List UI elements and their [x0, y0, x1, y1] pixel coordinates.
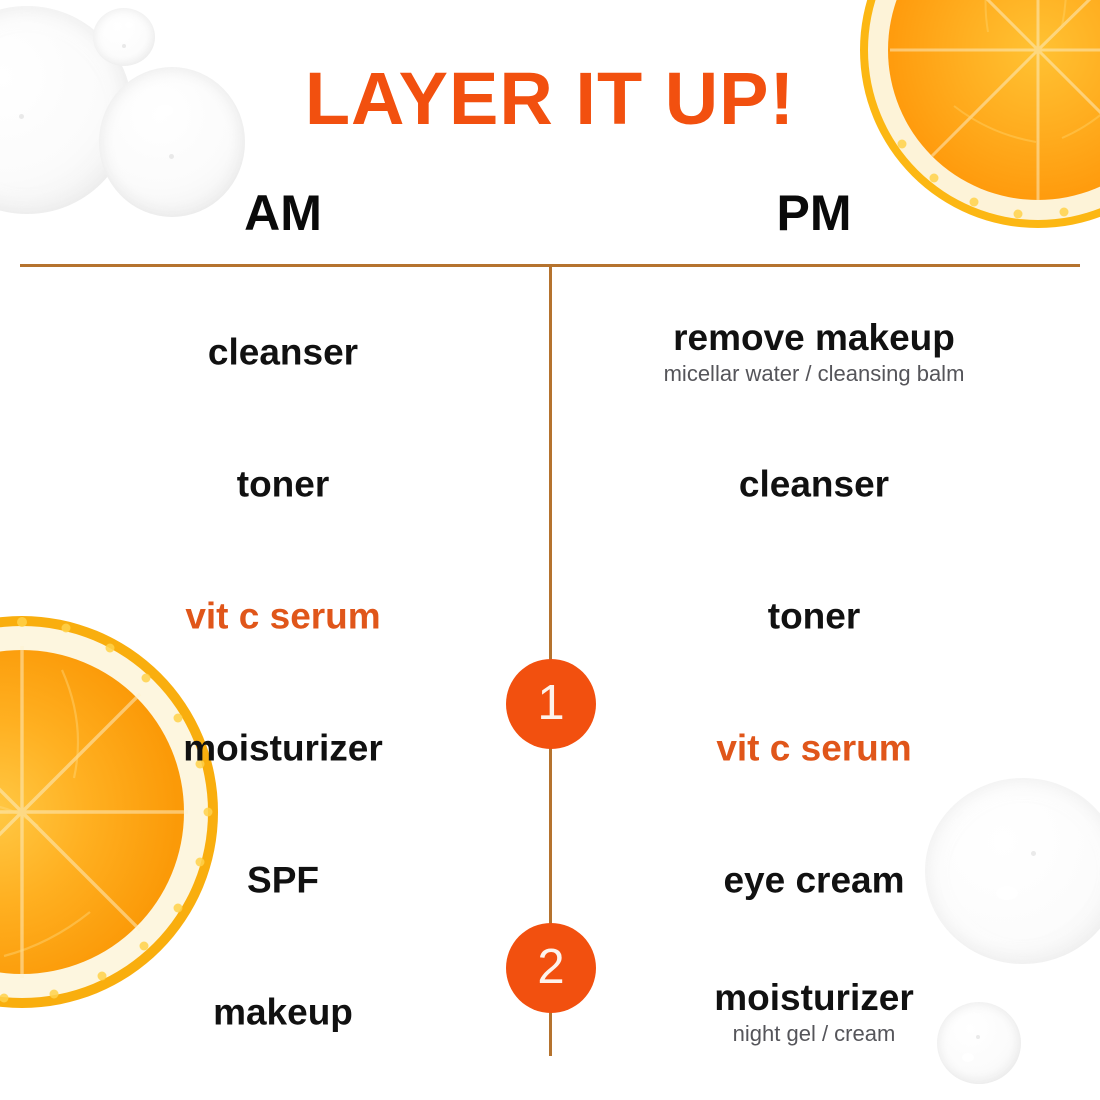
am-step-2-label: toner: [73, 464, 493, 503]
am-step-6: makeup: [73, 992, 493, 1031]
column-header-am: AM: [123, 188, 443, 238]
pm-step-6-label: moisturizer: [604, 978, 1024, 1017]
am-step-3: vit c serum: [73, 596, 493, 635]
am-step-5: SPF: [73, 860, 493, 899]
step-number-1: 1: [537, 679, 564, 728]
am-step-6-label: makeup: [73, 992, 493, 1031]
am-step-2: toner: [73, 464, 493, 503]
step-circle-2: 2: [506, 923, 596, 1013]
pm-step-6-sublabel: night gel / cream: [604, 1022, 1024, 1045]
pm-step-5: eye cream: [604, 860, 1024, 899]
pm-step-3: toner: [604, 596, 1024, 635]
pm-step-1-label: remove makeup: [604, 318, 1024, 357]
pm-step-2-label: cleanser: [604, 464, 1024, 503]
pm-step-2: cleanser: [604, 464, 1024, 503]
infographic-canvas: LAYER IT UP! AM PM cleanser 1 remove mak…: [0, 0, 1100, 1100]
am-step-1-label: cleanser: [73, 332, 493, 371]
pm-step-6: moisturizer night gel / cream: [604, 978, 1024, 1046]
pm-step-1: remove makeup micellar water / cleansing…: [604, 318, 1024, 386]
am-step-3-label: vit c serum: [73, 596, 493, 635]
pm-step-5-label: eye cream: [604, 860, 1024, 899]
orange-half-image: [0, 612, 222, 1012]
am-step-1: cleanser: [73, 332, 493, 371]
pm-step-3-label: toner: [604, 596, 1024, 635]
column-header-pm: PM: [654, 188, 974, 238]
pm-step-1-sublabel: micellar water / cleansing balm: [604, 362, 1024, 385]
serum-droplet-icon: [93, 8, 155, 66]
pm-step-4: vit c serum: [604, 728, 1024, 767]
page-title: LAYER IT UP!: [0, 62, 1100, 136]
step-number-2: 2: [537, 943, 564, 992]
am-step-4: moisturizer: [73, 728, 493, 767]
step-circle-1: 1: [506, 659, 596, 749]
am-step-5-label: SPF: [73, 860, 493, 899]
pm-step-4-label: vit c serum: [604, 728, 1024, 767]
am-step-4-label: moisturizer: [73, 728, 493, 767]
